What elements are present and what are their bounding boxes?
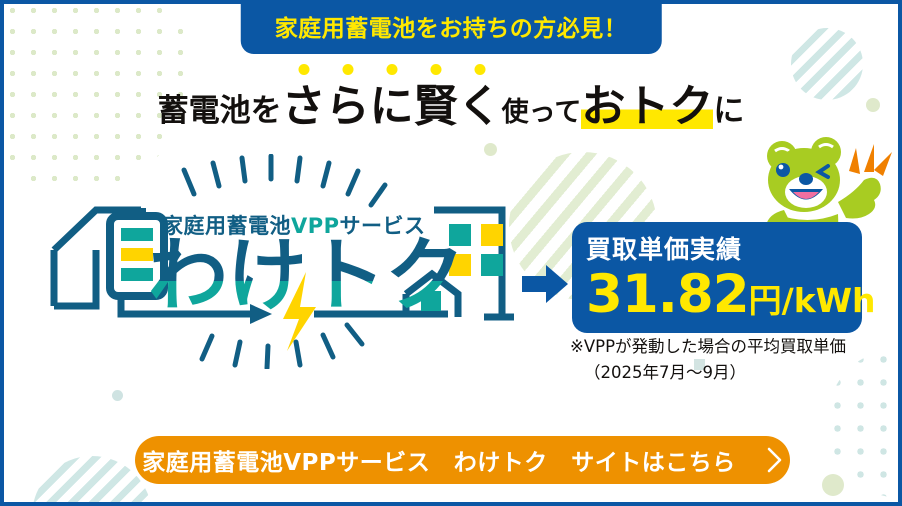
footnote-line-2: （2025年7月〜9月） <box>570 360 890 386</box>
headline: 蓄電池をさらに賢く使っておトクに <box>4 70 898 134</box>
headline-emphasis-char: ら <box>326 81 370 132</box>
service-logo-lockup: 家庭用蓄電池VPPサービス わけトク <box>44 154 544 369</box>
sunburst-bottom-icon <box>202 325 362 368</box>
chevron-right-icon <box>766 447 783 473</box>
headline-part-2: さらに賢く <box>282 70 502 134</box>
headline-part-3: 使って <box>502 90 582 129</box>
logo-wordmark: わけトク <box>148 236 464 316</box>
price-panel: 買取単価実績 31.82円/kWh <box>572 222 862 333</box>
headline-emphasis-char: に <box>370 81 414 132</box>
ribbon-text: 家庭用蓄電池をお持ちの方必見！ <box>275 16 628 42</box>
footnote-line-1: ※VPPが発動した場合の平均買取単価 <box>570 337 846 356</box>
decor-teal-stripe-circle-bottomleft <box>32 456 152 502</box>
right-arrow-icon <box>522 265 568 303</box>
cta-button-label: 家庭用蓄電池VPPサービス わけトク サイトはこちら <box>142 443 736 477</box>
price-unit: 円/kWh <box>749 281 876 320</box>
cta-button[interactable]: 家庭用蓄電池VPPサービス わけトク サイトはこちら <box>135 436 790 484</box>
mascot-nose <box>799 173 813 185</box>
headline-part-4-highlighted: おトク <box>581 70 713 134</box>
mascot-arm-right <box>838 178 881 219</box>
sparkle-icon <box>849 144 892 176</box>
headline-part-5: に <box>713 85 744 130</box>
mascot-eye-open <box>776 163 790 177</box>
price-label: 買取単価実績 <box>586 230 848 266</box>
headline-emphasis-char: く <box>458 81 502 132</box>
headline-part-1: 蓄電池を <box>158 85 282 130</box>
price-footnote: ※VPPが発動した場合の平均買取単価 （2025年7月〜9月） <box>570 334 890 385</box>
banner-canvas: 家庭用蓄電池をお持ちの方必見！ 蓄電池をさらに賢く使っておトクに <box>4 4 898 502</box>
sunburst-top-icon <box>184 156 385 205</box>
top-ribbon-banner: 家庭用蓄電池をお持ちの方必見！ <box>241 4 662 54</box>
decor-dot-3 <box>822 474 844 496</box>
price-value: 31.82円/kWh <box>586 268 848 321</box>
decor-dot-4 <box>112 390 123 401</box>
headline-emphasis-char: 賢 <box>414 81 458 132</box>
price-number: 31.82 <box>586 264 749 325</box>
headline-emphasis-char: さ <box>282 81 326 132</box>
promo-banner: 家庭用蓄電池をお持ちの方必見！ 蓄電池をさらに賢く使っておトクに <box>0 0 902 506</box>
